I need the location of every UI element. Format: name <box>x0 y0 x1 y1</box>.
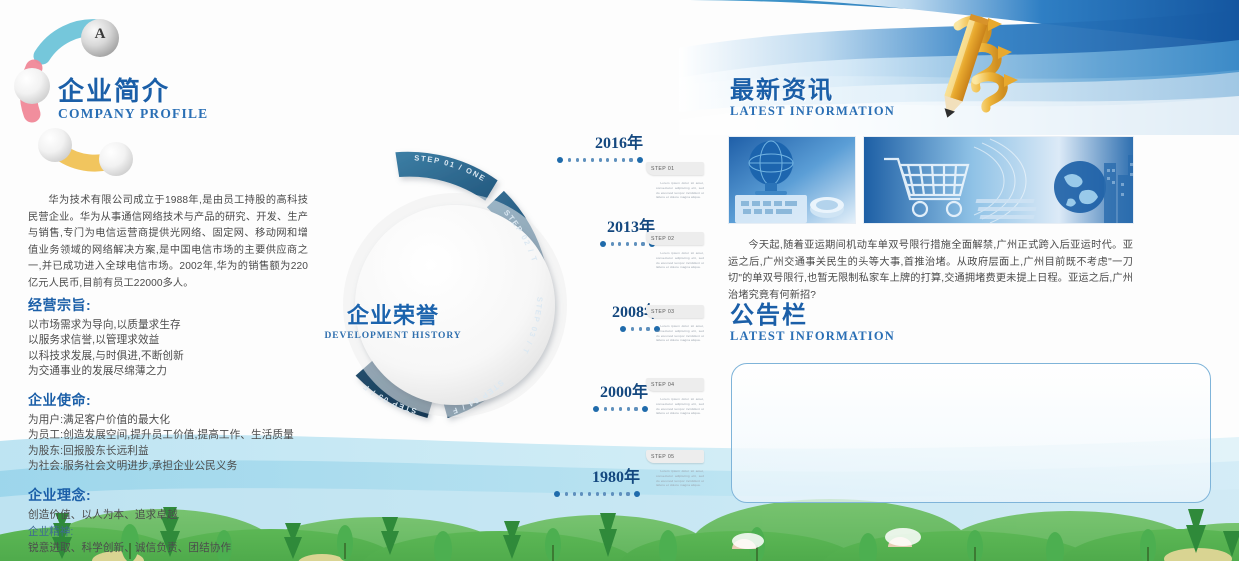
section-corporate-mission: 企业使命: 为用户:满足客户价值的最大化 为员工:创造发展空间,提升员工价值,提… <box>28 390 328 475</box>
step-body: Lorem ipsum dolor sit amet, consectetur … <box>656 324 704 343</box>
section-line: 为交通事业的发展尽绵薄之力 <box>28 364 328 379</box>
step-body: Lorem ipsum dolor sit amet, consectetur … <box>656 181 704 200</box>
step-body: Lorem ipsum dolor sit amet, consectetur … <box>656 397 704 416</box>
step-tag: STEP 02 <box>646 232 704 245</box>
step-body: Lorem ipsum dolor sit amet, consectetur … <box>656 469 704 488</box>
section-line: 以科技求发展,与时俱进,不断创新 <box>28 349 328 364</box>
bulletin-board-content <box>732 364 1210 388</box>
bulletin-board-heading: 公告栏 LATEST INFORMATION <box>730 303 895 344</box>
year-dot-trail <box>525 241 655 247</box>
timeline-year-2008: 2008年 <box>530 305 660 332</box>
news-body-text: 今天起,随着亚运期间机动车单双号限行措施全面解禁,广州正式跨入后亚运时代。亚运之… <box>728 238 1133 304</box>
globe-monitor-keyboard-photo <box>728 136 856 224</box>
bulletin-board-box[interactable] <box>731 363 1211 503</box>
development-history-chart: STEP 01 / ONE STEP 02 / TWO STEP 03 / TH… <box>305 130 725 530</box>
news-paragraph: 今天起,随着亚运期间机动车单双号限行措施全面解禁,广州正式跨入后亚运时代。亚运之… <box>728 238 1133 304</box>
year-dot-trail <box>510 491 640 497</box>
step-card-05[interactable]: STEP 05 Lorem ipsum dolor sit amet, cons… <box>646 450 704 488</box>
section-title: 企业使命: <box>28 390 328 410</box>
section-line: 为股东:回报股东长远利益 <box>28 444 328 459</box>
year-dot-trail <box>513 157 643 163</box>
step-card-04[interactable]: STEP 04 Lorem ipsum dolor sit amet, cons… <box>646 378 704 416</box>
section-business-purpose: 经营宗旨: 以市场需求为导向,以质量求生存 以服务求信誉,以管理求效益 以科技求… <box>28 295 328 380</box>
section-line: 为社会:服务社会文明进步,承担企业公民义务 <box>28 459 328 474</box>
board-title-en: LATEST INFORMATION <box>730 329 895 344</box>
year-label: 2016年 <box>513 136 643 152</box>
company-profile-title-cn: 企业简介 <box>58 78 208 105</box>
news-title-en: LATEST INFORMATION <box>730 104 895 119</box>
section-line: 以服务求信誉,以管理求效益 <box>28 333 328 348</box>
logo-badge-letter: A <box>89 26 111 43</box>
year-label: 2000年 <box>518 385 648 401</box>
section-corporate-values: 企业理念: 创造价值、以人为本、追求卓越 企业精神: 锐意进取、科学创新、诚信负… <box>28 485 328 556</box>
pencil-arrow-icon <box>900 4 1030 124</box>
step-tag: STEP 04 <box>646 378 704 391</box>
year-dot-trail <box>530 326 660 332</box>
step-tag: STEP 05 <box>646 450 704 463</box>
step-tag: STEP 03 <box>646 305 704 318</box>
section-line: 为用户:满足客户价值的最大化 <box>28 413 328 428</box>
step-body: Lorem ipsum dolor sit amet, consectetur … <box>656 251 704 270</box>
year-dot-trail <box>518 406 648 412</box>
timeline-year-2013: 2013年 <box>525 220 655 247</box>
company-profile-title-en: COMPANY PROFILE <box>58 106 208 122</box>
section-line: 为员工:创造发展空间,提升员工价值,提高工作、生活质量 <box>28 428 328 443</box>
year-label: 1980年 <box>510 470 640 486</box>
step-card-01[interactable]: STEP 01 Lorem ipsum dolor sit amet, cons… <box>646 162 704 200</box>
news-and-board-column: 最新资讯 LATEST INFORMATION <box>725 0 1239 561</box>
section-title: 企业理念: <box>28 485 328 505</box>
section-line: 锐意进取、科学创新、诚信负责、团结协作 <box>28 541 328 556</box>
timeline-year-2000: 2000年 <box>518 385 648 412</box>
company-intro-text: 华为技术有限公司成立于1988年,是由员工持股的高科技民营企业。华为从事通信网络… <box>28 193 308 292</box>
section-subtitle: 企业精神: <box>28 525 328 540</box>
section-line: 以市场需求为导向,以质量求生存 <box>28 318 328 333</box>
shopping-cart-globe-city-photo <box>863 136 1134 224</box>
section-line: 创造价值、以人为本、追求卓越 <box>28 508 328 523</box>
company-profile-poster: A 企业简介 COMPANY PROFILE 华为技术有限公司成立于1988年,… <box>0 0 1239 561</box>
step-tag: STEP 01 <box>646 162 704 175</box>
company-profile-column: A 企业简介 COMPANY PROFILE 华为技术有限公司成立于1988年,… <box>0 0 330 561</box>
latest-information-heading: 最新资讯 LATEST INFORMATION <box>730 78 895 119</box>
company-intro-paragraph: 华为技术有限公司成立于1988年,是由员工持股的高科技民营企业。华为从事通信网络… <box>28 193 308 292</box>
year-label: 2013年 <box>525 220 655 236</box>
company-profile-heading: 企业简介 COMPANY PROFILE <box>58 78 208 122</box>
board-title-cn: 公告栏 <box>730 303 895 328</box>
step-card-03[interactable]: STEP 03 Lorem ipsum dolor sit amet, cons… <box>646 305 704 343</box>
news-title-cn: 最新资讯 <box>730 78 895 103</box>
year-label: 2008年 <box>530 305 660 321</box>
timeline-year-2016: 2016年 <box>513 136 643 163</box>
news-photo-strip <box>728 136 1134 224</box>
step-card-02[interactable]: STEP 02 Lorem ipsum dolor sit amet, cons… <box>646 232 704 270</box>
timeline-year-1980: 1980年 <box>510 470 640 497</box>
section-title: 经营宗旨: <box>28 295 328 315</box>
